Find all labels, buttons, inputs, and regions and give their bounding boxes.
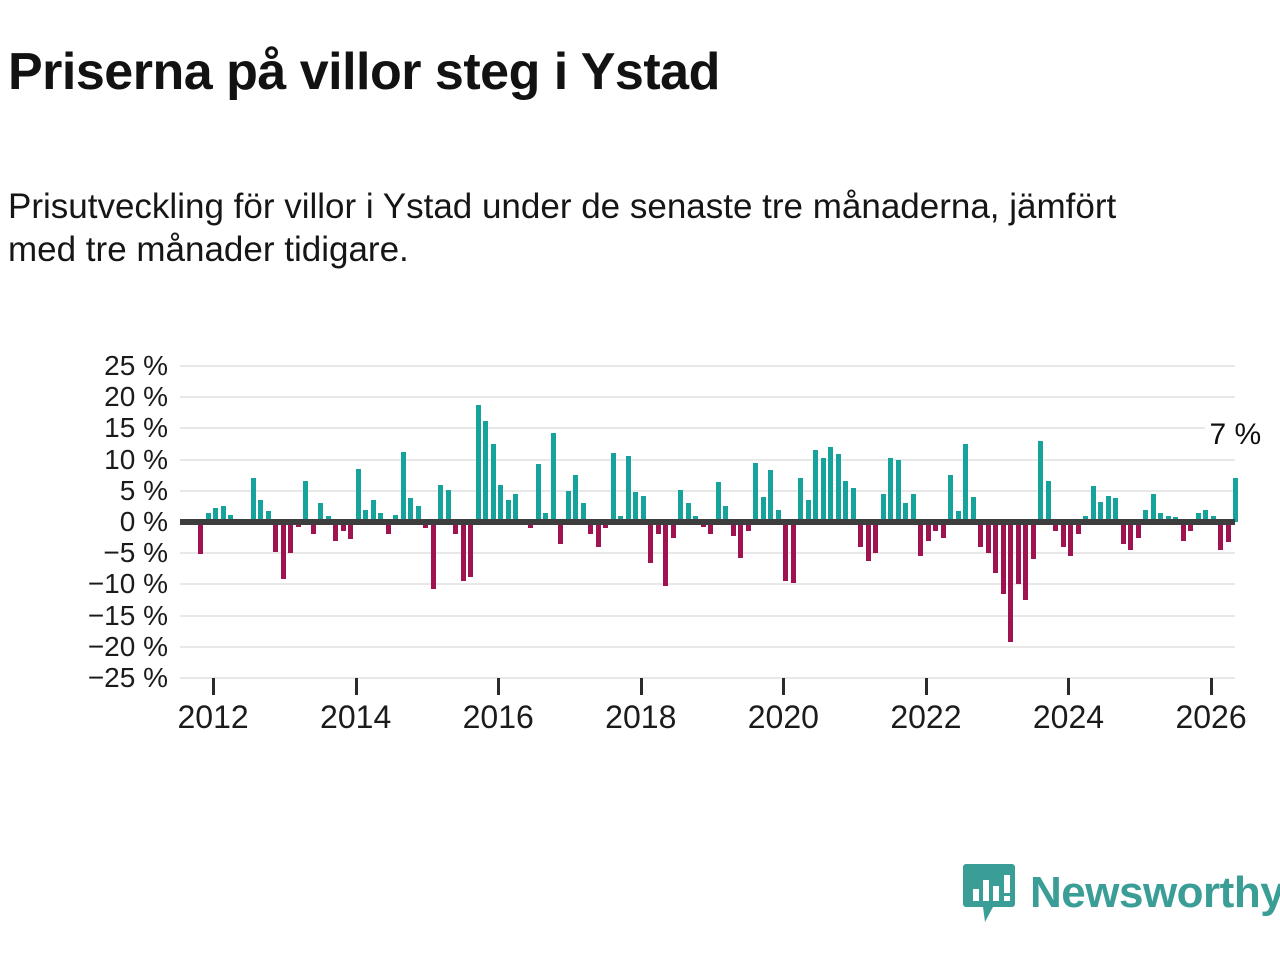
bar bbox=[251, 478, 256, 522]
gridline bbox=[180, 552, 1235, 554]
bar bbox=[768, 470, 773, 522]
bar bbox=[1031, 522, 1036, 559]
x-axis-tick bbox=[1067, 678, 1070, 695]
bar bbox=[1121, 522, 1126, 544]
bar bbox=[1008, 522, 1013, 642]
gridline bbox=[180, 365, 1235, 367]
speech-bubble-chart-icon bbox=[962, 862, 1016, 924]
bar bbox=[198, 522, 203, 554]
newsworthy-logo: Newsworthy bbox=[962, 862, 1280, 924]
bar bbox=[461, 522, 466, 581]
bar bbox=[401, 452, 406, 522]
bar bbox=[1151, 494, 1156, 522]
last-value-annotation: 7 % bbox=[1205, 418, 1265, 452]
bar bbox=[1091, 486, 1096, 522]
y-axis-tick-label: −25 % bbox=[88, 664, 168, 692]
bar bbox=[918, 522, 923, 556]
bar bbox=[1218, 522, 1223, 550]
bar-chart: 25 %20 %15 %10 %5 %0 %−5 %−10 %−15 %−20 … bbox=[0, 0, 1280, 960]
bar bbox=[1038, 441, 1043, 522]
bar bbox=[1233, 478, 1238, 522]
bar bbox=[873, 522, 878, 553]
gridline bbox=[180, 490, 1235, 492]
bar bbox=[558, 522, 563, 544]
x-axis: 20122014201620182020202220242026 bbox=[180, 678, 1235, 748]
bar bbox=[288, 522, 293, 553]
bar bbox=[536, 464, 541, 522]
x-axis-tick bbox=[925, 678, 928, 695]
bar bbox=[866, 522, 871, 561]
x-axis-tick-label: 2018 bbox=[605, 700, 676, 734]
x-axis-tick-label: 2024 bbox=[1033, 700, 1104, 734]
bar bbox=[513, 494, 518, 522]
bar bbox=[963, 444, 968, 522]
gridline bbox=[180, 427, 1235, 429]
x-axis-tick-label: 2022 bbox=[890, 700, 961, 734]
y-axis-tick-label: 10 % bbox=[104, 446, 168, 474]
bar bbox=[843, 481, 848, 522]
bar bbox=[648, 522, 653, 563]
bar bbox=[273, 522, 278, 552]
bar bbox=[993, 522, 998, 573]
gridline bbox=[180, 615, 1235, 617]
bar bbox=[1128, 522, 1133, 550]
gridline bbox=[180, 396, 1235, 398]
bar bbox=[596, 522, 601, 547]
bar bbox=[888, 458, 893, 522]
bar bbox=[978, 522, 983, 547]
x-axis-tick bbox=[212, 678, 215, 695]
x-axis-tick-label: 2026 bbox=[1175, 700, 1246, 734]
y-axis-tick-label: −15 % bbox=[88, 602, 168, 630]
x-axis-tick bbox=[355, 678, 358, 695]
plot-area bbox=[180, 366, 1235, 678]
x-axis-tick-label: 2012 bbox=[177, 700, 248, 734]
bar bbox=[303, 481, 308, 522]
bar bbox=[551, 433, 556, 522]
y-axis-tick-label: 0 % bbox=[120, 508, 168, 536]
bar bbox=[483, 421, 488, 522]
y-axis-tick-label: −10 % bbox=[88, 570, 168, 598]
bar bbox=[1023, 522, 1028, 600]
bar bbox=[446, 490, 451, 522]
bar bbox=[911, 494, 916, 522]
bar bbox=[491, 444, 496, 522]
y-axis-tick-label: −20 % bbox=[88, 633, 168, 661]
bar bbox=[566, 491, 571, 522]
bar bbox=[986, 522, 991, 553]
x-axis-tick-label: 2020 bbox=[748, 700, 819, 734]
bar bbox=[1046, 481, 1051, 522]
bar bbox=[828, 447, 833, 522]
bar bbox=[633, 492, 638, 522]
gridline bbox=[180, 459, 1235, 461]
y-axis-tick-label: 5 % bbox=[120, 477, 168, 505]
bar bbox=[836, 454, 841, 522]
bar bbox=[573, 475, 578, 522]
bar bbox=[1068, 522, 1073, 556]
bar bbox=[431, 522, 436, 589]
y-axis-tick-label: 15 % bbox=[104, 414, 168, 442]
x-axis-tick-label: 2014 bbox=[320, 700, 391, 734]
bar bbox=[783, 522, 788, 581]
bar bbox=[611, 453, 616, 522]
bar bbox=[498, 485, 503, 522]
bar bbox=[1001, 522, 1006, 594]
y-axis-tick-label: 25 % bbox=[104, 352, 168, 380]
x-axis-tick bbox=[782, 678, 785, 695]
bar bbox=[1061, 522, 1066, 547]
y-axis-tick-label: −5 % bbox=[103, 539, 168, 567]
gridline bbox=[180, 583, 1235, 585]
bar bbox=[881, 494, 886, 522]
bar bbox=[281, 522, 286, 579]
x-axis-tick bbox=[640, 678, 643, 695]
bar bbox=[438, 485, 443, 522]
x-axis-tick bbox=[1210, 678, 1213, 695]
bar bbox=[791, 522, 796, 583]
bar bbox=[821, 458, 826, 522]
bar bbox=[798, 478, 803, 522]
bar bbox=[356, 469, 361, 522]
x-axis-tick-label: 2016 bbox=[463, 700, 534, 734]
bar bbox=[738, 522, 743, 558]
bar bbox=[626, 456, 631, 522]
zero-line bbox=[180, 519, 1235, 525]
bar bbox=[663, 522, 668, 586]
gridline bbox=[180, 646, 1235, 648]
bar bbox=[476, 405, 481, 522]
bar bbox=[851, 488, 856, 522]
bar bbox=[813, 450, 818, 522]
logo-bubble-icon bbox=[962, 862, 1016, 924]
chart-page: Priserna på villor steg i Ystad Prisutve… bbox=[0, 0, 1280, 960]
bar bbox=[468, 522, 473, 577]
bar bbox=[753, 463, 758, 522]
bar bbox=[896, 460, 901, 522]
bar bbox=[948, 475, 953, 522]
bar bbox=[678, 490, 683, 522]
bar bbox=[716, 482, 721, 522]
bar bbox=[858, 522, 863, 547]
bar bbox=[1016, 522, 1021, 584]
x-axis-tick bbox=[497, 678, 500, 695]
y-axis-tick-label: 20 % bbox=[104, 383, 168, 411]
logo-wordmark: Newsworthy bbox=[1030, 871, 1280, 915]
